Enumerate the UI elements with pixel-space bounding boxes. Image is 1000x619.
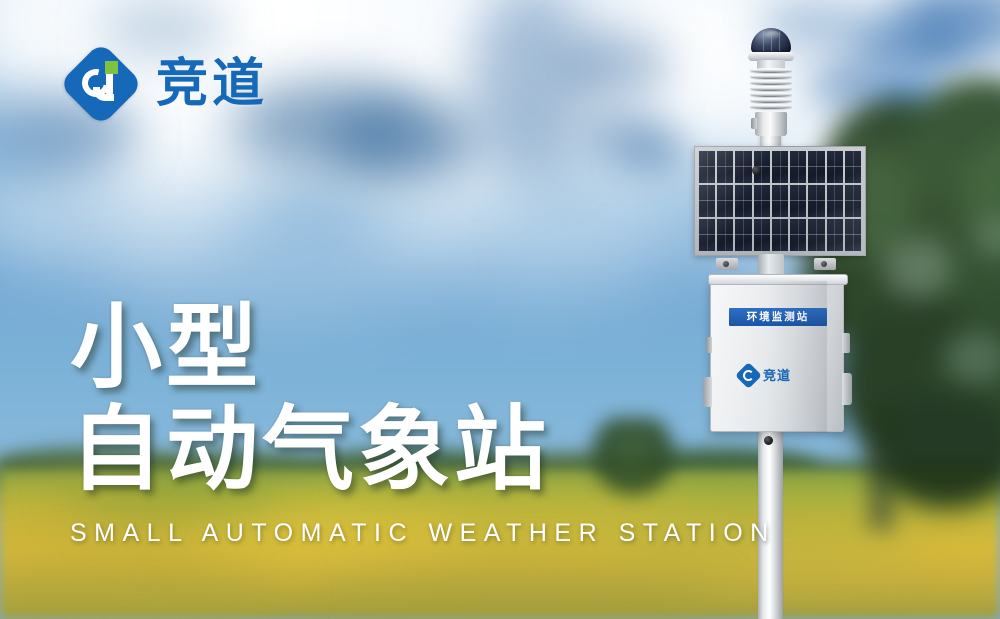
solar-cell — [808, 151, 824, 183]
solar-cell — [808, 185, 824, 217]
solar-cell — [754, 185, 770, 217]
solar-cell — [772, 151, 788, 183]
enclosure-latch-right — [842, 333, 850, 353]
enclosure-label-band: 环境监测站 — [729, 308, 827, 326]
brand-logo: 竞道 — [62, 45, 268, 123]
enclosure-shading — [767, 281, 827, 433]
solar-panel-assembly — [690, 146, 870, 276]
panel-bracket-arm — [716, 258, 738, 270]
solar-cell — [772, 185, 788, 217]
brand-name-text: 竞道 — [156, 58, 268, 110]
jingdao-logo-icon — [62, 45, 140, 123]
shield-fin — [750, 74, 792, 79]
shield-fin — [750, 104, 792, 109]
shield-fin — [750, 98, 792, 103]
solar-cell — [735, 151, 751, 183]
solar-cell — [717, 219, 733, 251]
enclosure-mount-tab-left — [703, 377, 712, 407]
headline-block: 小型 自动气象站 SMALL AUTOMATIC WEATHER STATION — [70, 300, 690, 548]
solar-cell — [699, 185, 715, 217]
shield-fin — [750, 80, 792, 85]
logo-green-square — [105, 61, 118, 74]
enclosure-brand-logo: 竞道 — [739, 363, 819, 387]
cloud-shadow — [560, 30, 670, 100]
tree-gap — [947, 333, 1000, 383]
enclosure-lid — [708, 274, 848, 285]
sensor-cable-clip — [751, 118, 757, 129]
solar-cell — [699, 151, 715, 183]
pole-bolt — [764, 436, 773, 445]
solar-cell — [717, 151, 733, 183]
solar-cell — [735, 219, 751, 251]
solar-panel — [694, 146, 866, 256]
shield-fin — [750, 68, 792, 73]
solar-cell — [754, 219, 770, 251]
panel-bracket-arm — [814, 258, 836, 270]
dome-highlight — [766, 31, 780, 39]
sensor-base — [755, 112, 787, 136]
monitoring-station-enclosure: 环境监测站 竞道 — [710, 280, 844, 432]
solar-cell — [790, 151, 806, 183]
dome-ridge — [771, 31, 772, 51]
solar-cell — [808, 219, 824, 251]
jingdao-logo-icon — [735, 362, 762, 389]
enclosure-mount-tab-right — [842, 373, 852, 405]
bracket-bolt — [723, 261, 729, 267]
solar-cell — [827, 219, 843, 251]
product-banner: 环境监测站 竞道 竞道 小型 自动气象站 SMALL AUTOMATIC — [0, 0, 1000, 619]
dome-ridge — [763, 31, 764, 51]
headline-subtitle: SMALL AUTOMATIC WEATHER STATION — [70, 519, 690, 548]
sensor-dome — [751, 28, 791, 54]
enclosure-label-text: 环境监测站 — [747, 312, 810, 323]
bracket-bolt — [821, 261, 827, 267]
headline-line-1: 小型 — [70, 300, 690, 398]
ultrasonic-weather-sensor — [742, 28, 800, 136]
enclosure-brand-text: 竞道 — [763, 369, 791, 382]
solar-cell — [790, 185, 806, 217]
solar-cell — [845, 185, 861, 217]
solar-cell — [699, 219, 715, 251]
solar-cell — [827, 151, 843, 183]
enclosure-cable-gland — [752, 166, 761, 175]
solar-cell — [717, 185, 733, 217]
radiation-shield — [750, 68, 792, 112]
cloud-shadow — [620, 130, 690, 175]
solar-cell — [827, 185, 843, 217]
cloud-shadow — [330, 100, 480, 180]
shield-fin — [750, 92, 792, 97]
enclosure-latch-left — [706, 337, 712, 353]
solar-cell — [845, 219, 861, 251]
dome-ridge — [779, 31, 780, 51]
solar-cell — [735, 185, 751, 217]
solar-cell — [790, 219, 806, 251]
shield-fin — [750, 86, 792, 91]
tree-gap — [882, 238, 952, 298]
headline-line-2: 自动气象站 — [70, 402, 690, 500]
solar-cell — [845, 151, 861, 183]
solar-cell — [772, 219, 788, 251]
